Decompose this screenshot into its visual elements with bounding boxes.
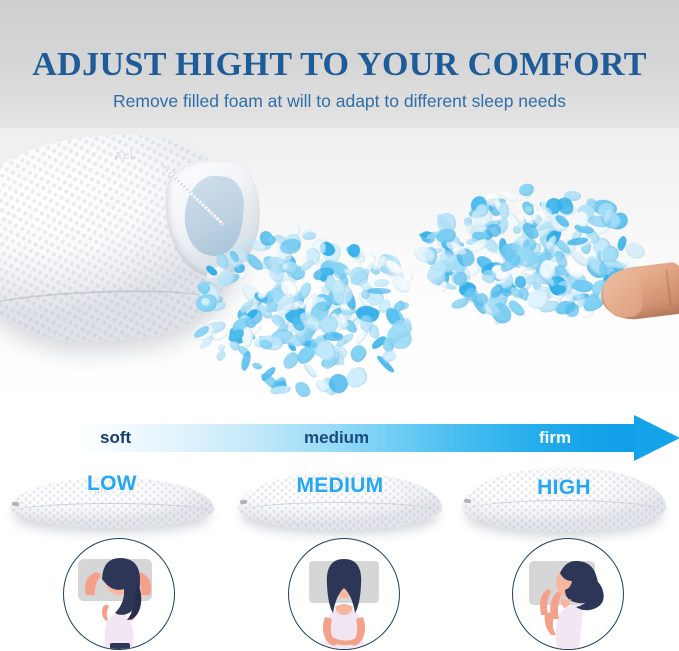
pillow-option-medium: nnn MEDIUM [238, 456, 442, 534]
spilling-foam [196, 224, 411, 399]
hand-wrist-crease [666, 270, 672, 306]
pillow-option-low: nnn LOW [10, 456, 214, 534]
foam-piece [343, 363, 372, 392]
woman-front-hands-waist-icon [289, 539, 399, 649]
foam-piece [485, 224, 500, 237]
scale-label-firm: firm [539, 427, 571, 449]
pillow-height-row: nnn LOW nnn MEDIUM nnn HIGH [0, 456, 679, 534]
foam-piece [251, 362, 262, 371]
scale-label-medium: medium [304, 427, 369, 449]
hero-product-photo: S ALL [0, 128, 679, 413]
foam-piece [517, 182, 534, 198]
infographic-page: ADJUST HIGHT TO YOUR COMFORT Remove fill… [0, 0, 679, 651]
sleep-position-illustrations [0, 538, 679, 651]
arrow-head-icon [634, 415, 679, 461]
foam-piece [302, 231, 316, 240]
mini-pillow-tag [12, 502, 19, 506]
illustration-circle-low [63, 538, 175, 650]
mini-pillow-seam [240, 502, 438, 522]
pillow-option-high: nnn HIGH [462, 456, 666, 534]
illustration-circle-high [512, 538, 624, 650]
foam-piece [498, 201, 510, 219]
mini-pillow-tag [240, 500, 247, 504]
foam-piece [291, 379, 313, 401]
scale-label-soft: soft [100, 427, 131, 449]
page-title: ADJUST HIGHT TO YOUR COMFORT [0, 0, 679, 84]
pillow-label-medium: MEDIUM [238, 474, 442, 498]
woman-arms-behind-head-icon [64, 539, 174, 649]
foam-piece [374, 278, 389, 287]
page-subtitle: Remove filled foam at will to adapt to d… [0, 84, 679, 112]
pillow-logo-secondary: ALL [114, 149, 138, 163]
foam-piece [348, 342, 369, 364]
mini-pillow-seam [12, 503, 210, 521]
pillow-label-high: HIGH [462, 476, 666, 500]
woman-side-profile-hands-up-icon [513, 539, 623, 649]
firmness-scale-arrow: soft medium firm [76, 424, 679, 452]
foam-piece [302, 361, 319, 380]
mini-pillow-seam [464, 500, 662, 523]
illustration-circle-medium [288, 538, 400, 650]
header: ADJUST HIGHT TO YOUR COMFORT Remove fill… [0, 0, 679, 132]
pillow-label-low: LOW [10, 472, 214, 496]
